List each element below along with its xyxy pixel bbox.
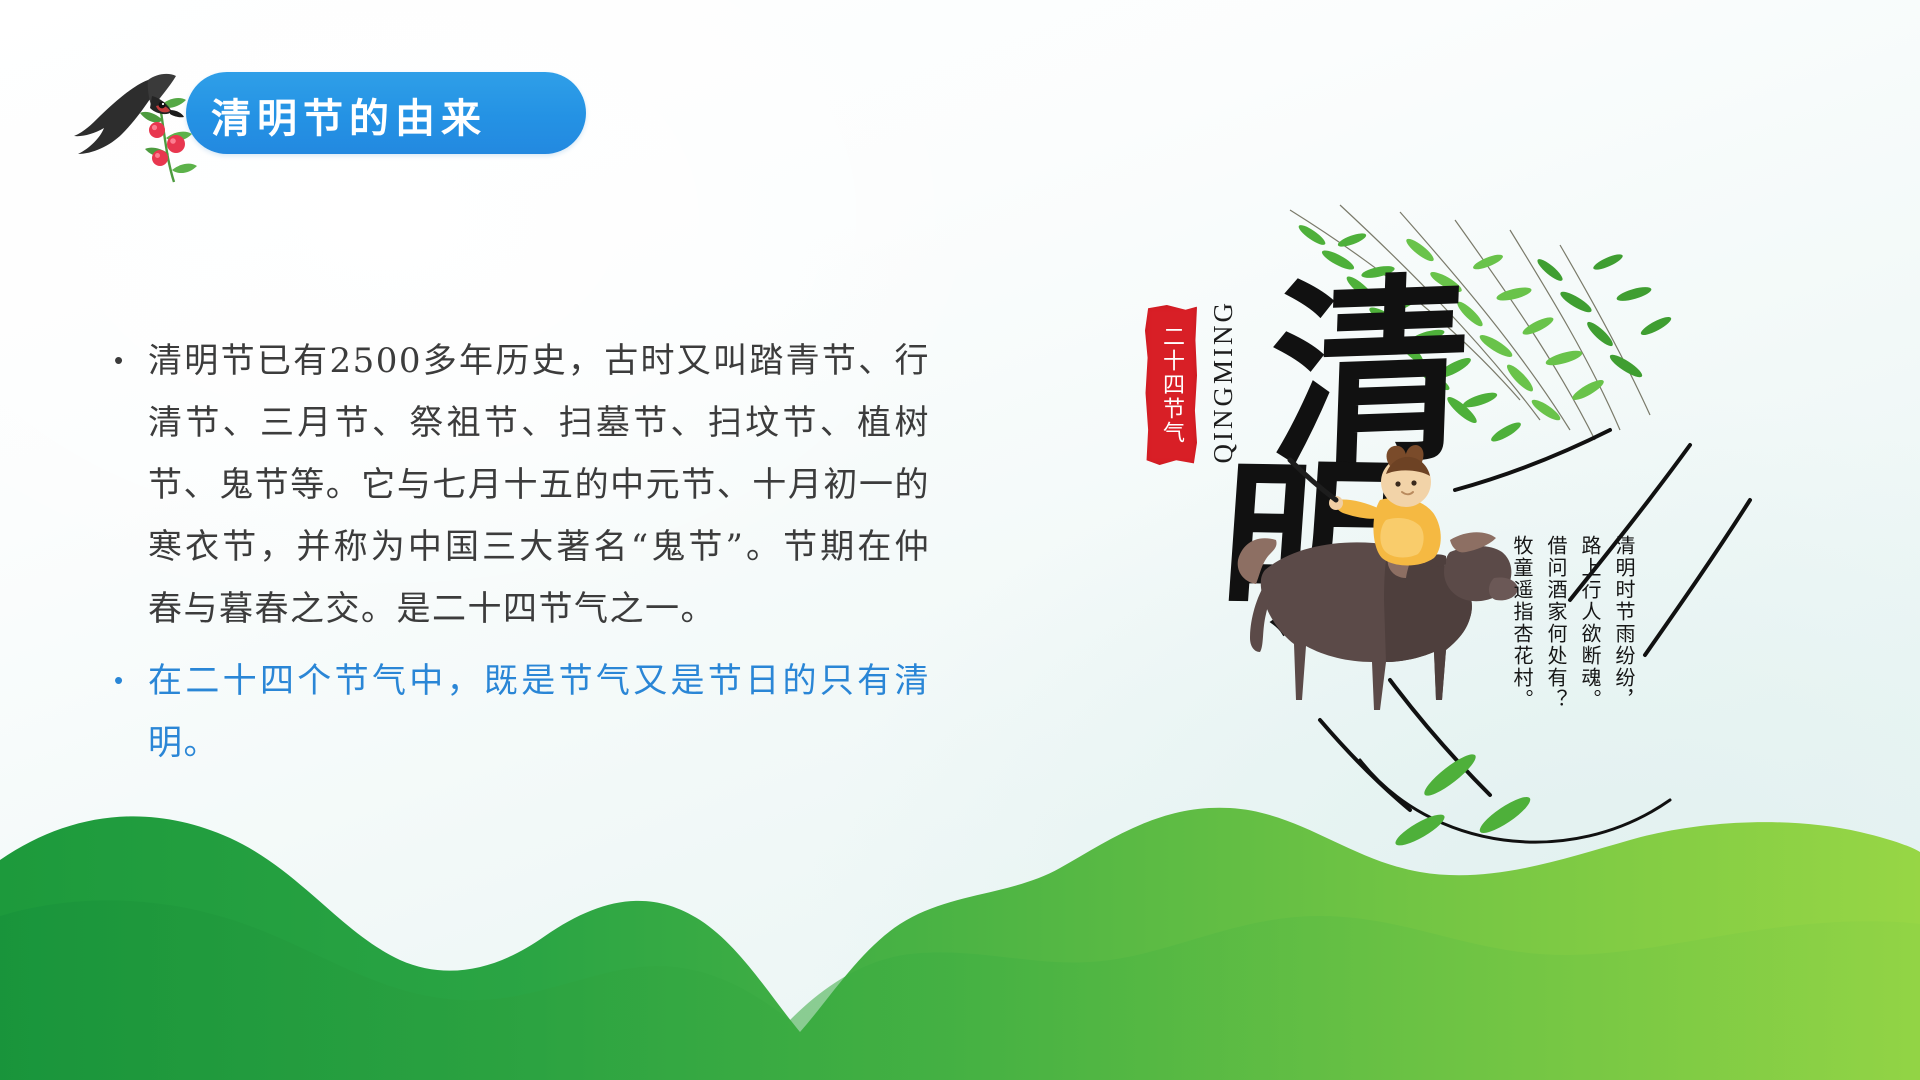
bullet-marker: • — [110, 330, 148, 390]
seal-stamp: 二十四节气 — [1145, 305, 1197, 465]
calligraphy-char-ming: 明 — [1213, 453, 1416, 646]
body-content: • 清明节已有2500多年历史，古时又叫踏青节、行清节、三月节、祭祖节、扫墓节、… — [110, 330, 930, 784]
green-hills-decoration — [0, 720, 1920, 1080]
slide-root: 清明节的由来 — [0, 0, 1920, 1080]
bullet-marker: • — [110, 650, 148, 710]
bullet-text-origin: 清明节已有2500多年历史，古时又叫踏青节、行清节、三月节、祭祖节、扫墓节、扫坟… — [148, 330, 930, 640]
bullet-item-1: • 清明节已有2500多年历史，古时又叫踏青节、行清节、三月节、祭祖节、扫墓节、… — [110, 330, 930, 640]
seal-text: 二十四节气 — [1145, 305, 1197, 465]
slide-header: 清明节的由来 — [36, 50, 656, 180]
swallow-bird-icon — [56, 58, 236, 183]
